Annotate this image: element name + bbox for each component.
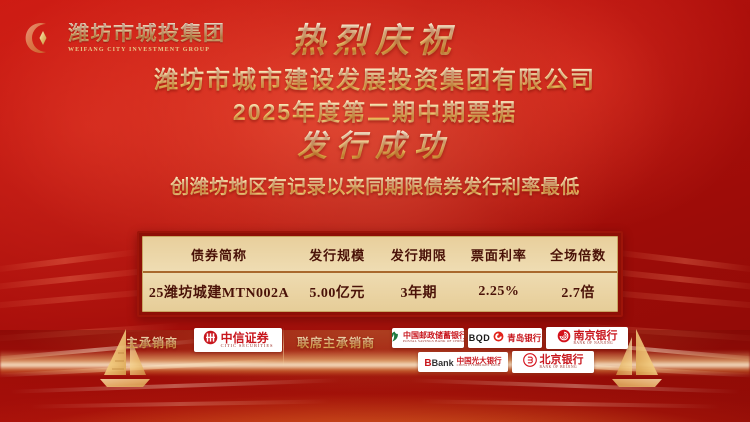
col-subscription-multiple: 全场倍数 (539, 237, 617, 272)
title-company: 潍坊市城市建设发展投资集团有限公司 (0, 67, 750, 96)
underwriters-section: 主承销商 联席主承销商 中信证券 CITIC SECURITIES (0, 325, 750, 377)
joint-underwriter-label: 联席主承销商 (297, 334, 375, 351)
cell-subscription-multiple: 2.7倍 (539, 272, 617, 311)
title-record: 创潍坊地区有记录以来同期限债券发行利率最低 (0, 172, 750, 199)
everbright-name-en: CHINA EVERBRIGHT BANK (457, 364, 501, 367)
logo-bank-of-beijing: 北京银行 BANK OF BEIJING (512, 351, 594, 373)
citic-name-en: CITIC SECURITIES (221, 344, 274, 349)
bqd-abbr: BQD (469, 333, 491, 343)
celebration-poster: 潍坊市城投集团 WEIFANG CITY INVESTMENT GROUP 热烈… (0, 0, 750, 422)
logo-bank-of-qingdao: BQD 青岛银行 (468, 328, 542, 348)
bond-table-panel: 债券简称 发行规模 发行期限 票面利率 全场倍数 25潍坊城建MTN002A 5… (137, 231, 623, 317)
decor-plate (0, 267, 160, 292)
beijing-name-en: BANK OF BEIJING (540, 366, 578, 370)
logo-postal-savings-bank: 中国邮政储蓄银行 POSTAL SAVINGS BANK OF CHINA (392, 328, 464, 348)
decor-plate (610, 249, 750, 273)
logo-citic-securities: 中信证券 CITIC SECURITIES (194, 328, 282, 352)
col-issue-size: 发行规模 (295, 237, 379, 272)
title-issue: 2025年度第二期中期票据 (0, 99, 750, 127)
citic-seal-icon (203, 330, 218, 350)
beijing-circle-icon (523, 353, 537, 372)
col-issue-term: 发行期限 (379, 237, 458, 272)
title-cheer: 热烈庆祝 (0, 22, 750, 61)
title-success: 发行成功 (0, 130, 750, 165)
everbright-e-icon: BBank (424, 353, 453, 371)
cell-issue-size: 5.00亿元 (295, 272, 379, 311)
col-coupon-rate: 票面利率 (458, 237, 539, 272)
everbright-abbr: Bank (432, 358, 454, 368)
nanjing-rose-icon (557, 329, 571, 348)
col-bond-name: 债券简称 (143, 237, 295, 272)
decor-plate (0, 249, 140, 273)
table-row: 25潍坊城建MTN002A 5.00亿元 3年期 2.25% 2.7倍 (143, 272, 617, 311)
lead-underwriter-label: 主承销商 (126, 334, 178, 351)
underwriter-divider (283, 327, 284, 367)
cell-issue-term: 3年期 (379, 272, 458, 311)
bond-table: 债券简称 发行规模 发行期限 票面利率 全场倍数 25潍坊城建MTN002A 5… (143, 237, 617, 311)
title-block: 热烈庆祝 潍坊市城市建设发展投资集团有限公司 2025年度第二期中期票据 发行成… (0, 22, 750, 199)
table-header-row: 债券简称 发行规模 发行期限 票面利率 全场倍数 (143, 237, 617, 272)
nanjing-name-en: BANK OF NANJING (574, 342, 614, 346)
logo-china-everbright-bank: BBank 中国光大银行 CHINA EVERBRIGHT BANK (418, 352, 508, 372)
citic-name-cn: 中信证券 (221, 332, 269, 344)
psbc-name-en: POSTAL SAVINGS BANK OF CHINA (403, 340, 464, 343)
cell-bond-name: 25潍坊城建MTN002A (143, 272, 295, 311)
cell-coupon-rate: 2.25% (458, 272, 539, 311)
psbc-leaf-icon (392, 329, 400, 347)
logo-bank-of-nanjing: 南京银行 BANK OF NANJING (546, 327, 628, 349)
bqd-name-cn: 青岛银行 (507, 334, 541, 343)
bqd-circle-icon (493, 329, 504, 347)
